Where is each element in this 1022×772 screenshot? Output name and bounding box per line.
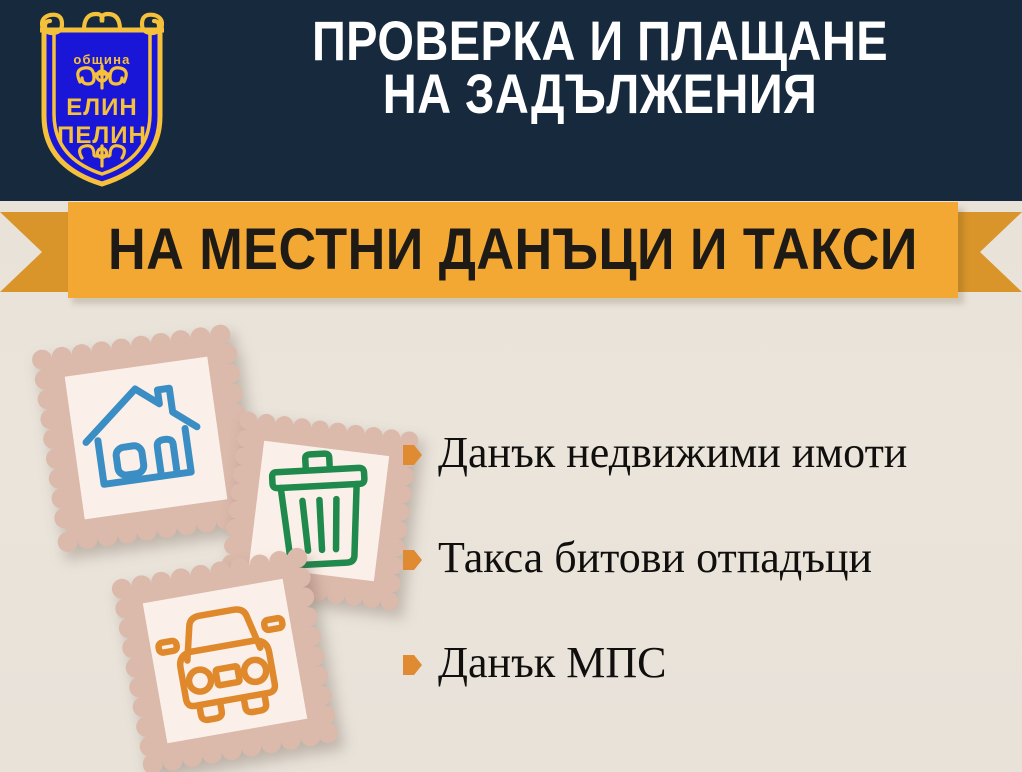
list-item[interactable]: Данък МПС — [403, 640, 1015, 686]
tax-types-list: Данък недвижими имоти Такса битови отпад… — [403, 430, 1015, 687]
list-item-label: Данък МПС — [438, 640, 666, 686]
title-line-2: НА ЗАДЪЛЖЕНИЯ — [252, 67, 948, 120]
coat-of-arms-icon: община ЕЛИН ПЕЛИН — [22, 8, 182, 190]
ribbon-label: НА МЕСТНИ ДАНЪЦИ И ТАКСИ — [108, 221, 918, 279]
municipality-logo: община ЕЛИН ПЕЛИН — [22, 8, 182, 190]
list-item[interactable]: Такса битови отпадъци — [403, 535, 1015, 581]
list-item-label: Такса битови отпадъци — [438, 535, 872, 581]
arrow-bullet-icon — [403, 548, 422, 572]
header-bar: община ЕЛИН ПЕЛИН — [0, 0, 1022, 201]
poster-canvas: община ЕЛИН ПЕЛИН — [0, 0, 1022, 772]
subtitle-ribbon: НА МЕСТНИ ДАНЪЦИ И ТАКСИ — [0, 198, 1022, 306]
arrow-bullet-icon — [403, 443, 422, 467]
stamp-card-car — [100, 536, 350, 772]
ribbon-banner: НА МЕСТНИ ДАНЪЦИ И ТАКСИ — [68, 202, 958, 298]
list-item[interactable]: Данък недвижими имоти — [403, 430, 1015, 476]
arrow-bullet-icon — [403, 653, 422, 677]
logo-text-elin: ЕЛИН — [66, 94, 137, 121]
list-item-label: Данък недвижими имоти — [438, 430, 907, 476]
page-title: ПРОВЕРКА И ПЛАЩАНЕ НА ЗАДЪЛЖЕНИЯ — [252, 14, 948, 120]
